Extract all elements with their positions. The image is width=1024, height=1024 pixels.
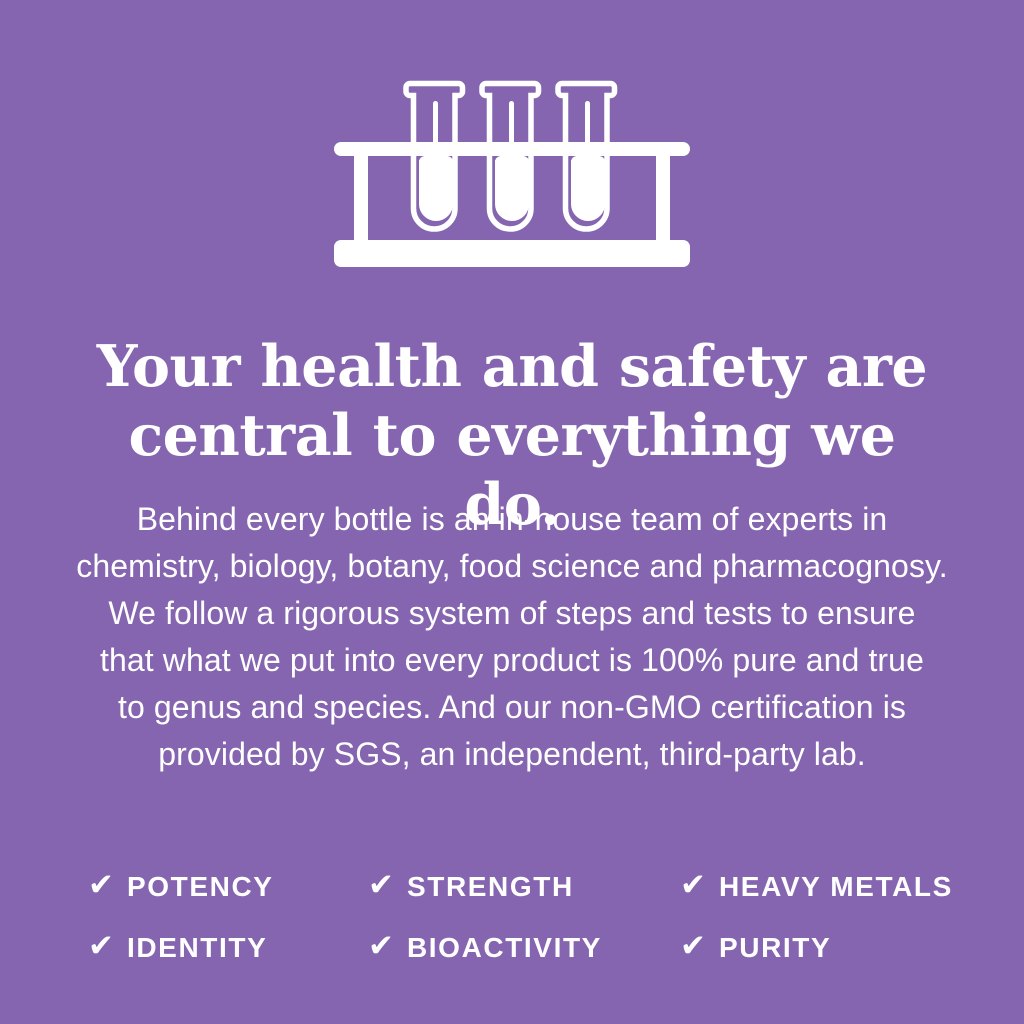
quality-promise-card: Your health and safety are central to ev…	[0, 0, 1024, 1024]
check-icon: ✔	[368, 931, 394, 962]
check-icon: ✔	[88, 931, 114, 962]
check-icon: ✔	[680, 870, 706, 901]
body-line: to genus and species. And our non-GMO ce…	[72, 684, 952, 731]
test-tube-rack-icon	[334, 62, 690, 267]
checklist-item-label: PURITY	[719, 934, 831, 962]
check-icon: ✔	[368, 870, 394, 901]
checklist-item-label: IDENTITY	[127, 934, 267, 962]
body-line: chemistry, biology, botany, food science…	[72, 543, 952, 590]
body-line: We follow a rigorous system of steps and…	[72, 590, 952, 637]
check-icon: ✔	[88, 870, 114, 901]
checklist-item-heavy-metals: ✔ HEAVY METALS	[680, 871, 954, 902]
test-checklist: ✔ POTENCY ✔ STRENGTH ✔ HEAVY METALS ✔ ID…	[88, 856, 954, 978]
checklist-item-purity: ✔ PURITY	[680, 932, 954, 963]
checklist-item-label: HEAVY METALS	[719, 873, 953, 901]
checklist-item-strength: ✔ STRENGTH	[368, 871, 680, 902]
body-paragraph: Behind every bottle is an in-house team …	[72, 496, 952, 778]
body-line: Behind every bottle is an in-house team …	[72, 496, 952, 543]
body-line: that what we put into every product is 1…	[72, 637, 952, 684]
checklist-item-label: POTENCY	[127, 873, 274, 901]
checklist-item-label: BIOACTIVITY	[407, 934, 602, 962]
checklist-item-potency: ✔ POTENCY	[88, 871, 368, 902]
check-icon: ✔	[680, 931, 706, 962]
checklist-item-bioactivity: ✔ BIOACTIVITY	[368, 932, 680, 963]
body-line: provided by SGS, an independent, third-p…	[72, 731, 952, 778]
checklist-item-identity: ✔ IDENTITY	[88, 932, 368, 963]
checklist-item-label: STRENGTH	[407, 873, 574, 901]
